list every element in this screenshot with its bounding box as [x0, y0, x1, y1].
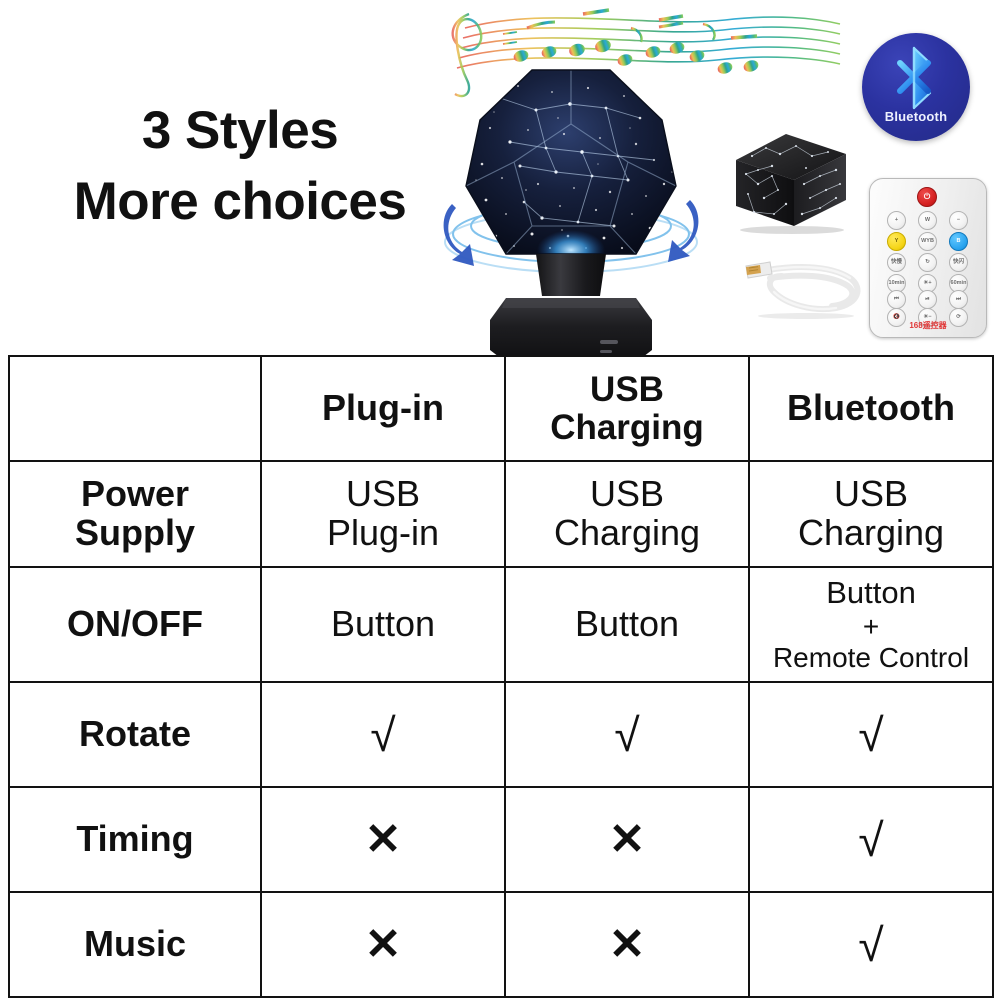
cell-line-2: Plug-in	[266, 514, 500, 553]
row-label-power-supply-line-2: Supply	[14, 514, 256, 553]
cell-power-supply-plug-in: USB Plug-in	[261, 461, 505, 567]
cell-rotate-usb-charging: √	[505, 682, 749, 787]
bluetooth-badge: Bluetooth	[862, 33, 970, 141]
constellation-gift-box-image	[728, 126, 852, 234]
bluetooth-badge-label: Bluetooth	[862, 109, 970, 124]
cell-rotate-plug-in: √	[261, 682, 505, 787]
cell-line-3: Remote Control	[754, 642, 988, 673]
check-mark-icon: √	[858, 712, 883, 758]
remote-next-button: ⏭	[949, 290, 968, 309]
cell-line-1: USB	[510, 475, 744, 514]
row-label-power-supply: Power Supply	[9, 461, 261, 567]
cross-mark-icon: ✕	[365, 818, 402, 862]
remote-previous-button: ⏮	[887, 290, 906, 309]
table-row: Rotate √ √ √	[9, 682, 993, 787]
cell-line-1: USB	[266, 475, 500, 514]
cross-mark-icon: ✕	[609, 923, 646, 967]
column-header-usb-charging-line-2: Charging	[510, 409, 744, 446]
column-header-bluetooth: Bluetooth	[749, 356, 993, 461]
cell-line-2: +	[754, 611, 988, 642]
row-label-music: Music	[9, 892, 261, 997]
remote-wyb-button: WYB	[918, 232, 937, 251]
cell-timing-plug-in: ✕	[261, 787, 505, 892]
table-corner-cell	[9, 356, 261, 461]
remote-blue-button: B	[949, 232, 968, 251]
remote-play-pause-button: ⏯	[918, 290, 937, 309]
cell-music-usb-charging: ✕	[505, 892, 749, 997]
cell-on-off-plug-in: Button	[261, 567, 505, 682]
remote-flash-button: 快闪	[949, 253, 968, 272]
cell-timing-usb-charging: ✕	[505, 787, 749, 892]
cell-on-off-usb-charging: Button	[505, 567, 749, 682]
cell-line-2: Charging	[754, 514, 988, 553]
column-header-usb-charging-line-1: USB	[510, 371, 744, 408]
page-title: 3 Styles More choices	[30, 100, 450, 233]
cell-power-supply-bluetooth: USB Charging	[749, 461, 993, 567]
row-label-on-off: ON/OFF	[9, 567, 261, 682]
cross-mark-icon: ✕	[365, 923, 402, 967]
remote-speed-button: 快慢	[887, 253, 906, 272]
column-header-plug-in: Plug-in	[261, 356, 505, 461]
remote-control-image: ⏻ + W − Y WYB B 快慢 ↻ 快闪 10min ☀+ 60min ⏮…	[869, 178, 987, 338]
check-mark-icon: √	[614, 712, 639, 758]
table-header-row: Plug-in USB Charging Bluetooth	[9, 356, 993, 461]
cell-timing-bluetooth: √	[749, 787, 993, 892]
product-comparison-page: 3 Styles More choices	[0, 0, 1000, 1000]
table-row: Power Supply USB Plug-in USB Charging US…	[9, 461, 993, 567]
row-label-rotate: Rotate	[9, 682, 261, 787]
table-row: Timing ✕ ✕ √	[9, 787, 993, 892]
remote-power-button: ⏻	[917, 187, 937, 207]
remote-minus-button: −	[949, 211, 968, 230]
row-label-power-supply-line-1: Power	[14, 475, 256, 514]
remote-rotate-button: ↻	[918, 253, 937, 272]
cell-music-bluetooth: √	[749, 892, 993, 997]
column-header-usb-charging: USB Charging	[505, 356, 749, 461]
remote-white-button: W	[918, 211, 937, 230]
check-mark-icon: √	[858, 817, 883, 863]
table-row: ON/OFF Button Button Button + Remote Con…	[9, 567, 993, 682]
check-mark-icon: √	[370, 712, 395, 758]
bluetooth-icon	[888, 45, 944, 111]
headline-line-2: More choices	[30, 171, 450, 234]
cell-rotate-bluetooth: √	[749, 682, 993, 787]
rotate-left-arrow-icon	[444, 204, 474, 266]
feature-comparison-table: Plug-in USB Charging Bluetooth Power Sup…	[8, 355, 994, 998]
remote-model-label: 168遥控器	[869, 320, 987, 331]
table-row: Music ✕ ✕ √	[9, 892, 993, 997]
cell-on-off-bluetooth: Button + Remote Control	[749, 567, 993, 682]
cell-line-2: Charging	[510, 514, 744, 553]
remote-yellow-button: Y	[887, 232, 906, 251]
headline-line-1: 3 Styles	[30, 100, 450, 163]
hero-section: 3 Styles More choices	[0, 0, 1000, 355]
star-projector-lamp-image	[440, 58, 702, 358]
cell-line-1: USB	[754, 475, 988, 514]
cell-power-supply-usb-charging: USB Charging	[505, 461, 749, 567]
cell-music-plug-in: ✕	[261, 892, 505, 997]
remote-plus-button: +	[887, 211, 906, 230]
row-label-timing: Timing	[9, 787, 261, 892]
rotate-right-arrow-icon	[668, 200, 698, 262]
usb-cable-image	[740, 248, 868, 320]
cell-line-1: Button	[754, 576, 988, 611]
cross-mark-icon: ✕	[609, 818, 646, 862]
check-mark-icon: √	[858, 922, 883, 968]
